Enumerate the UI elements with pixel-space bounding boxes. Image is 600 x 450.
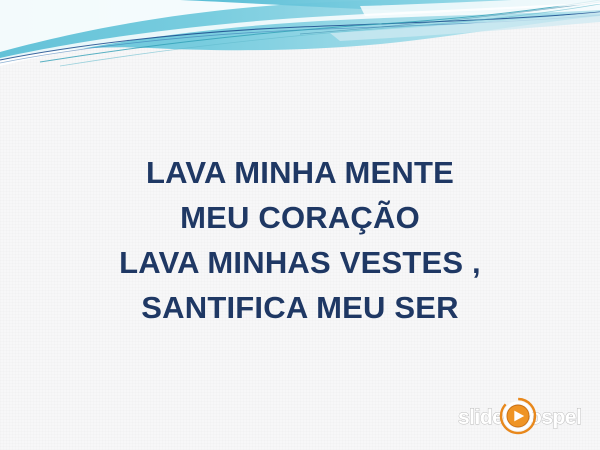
lyric-line-3: LAVA MINHAS VESTES ,	[0, 240, 600, 285]
play-button-icon	[494, 392, 542, 438]
lyric-line-2: MEU CORAÇÃO	[0, 195, 600, 240]
logo-word-slide: slide	[458, 406, 503, 429]
logo-word-gospel: ospel	[529, 406, 581, 429]
presentation-slide: LAVA MINHA MENTE MEU CORAÇÃO LAVA MINHAS…	[0, 0, 600, 450]
lyric-line-4: SANTIFICA MEU SER	[0, 285, 600, 330]
lyric-line-1: LAVA MINHA MENTE	[0, 150, 600, 195]
slide-text-block: LAVA MINHA MENTE MEU CORAÇÃO LAVA MINHAS…	[0, 150, 600, 330]
slidegospel-logo: slide ospel	[456, 392, 588, 438]
header-wave-band	[0, 0, 600, 70]
